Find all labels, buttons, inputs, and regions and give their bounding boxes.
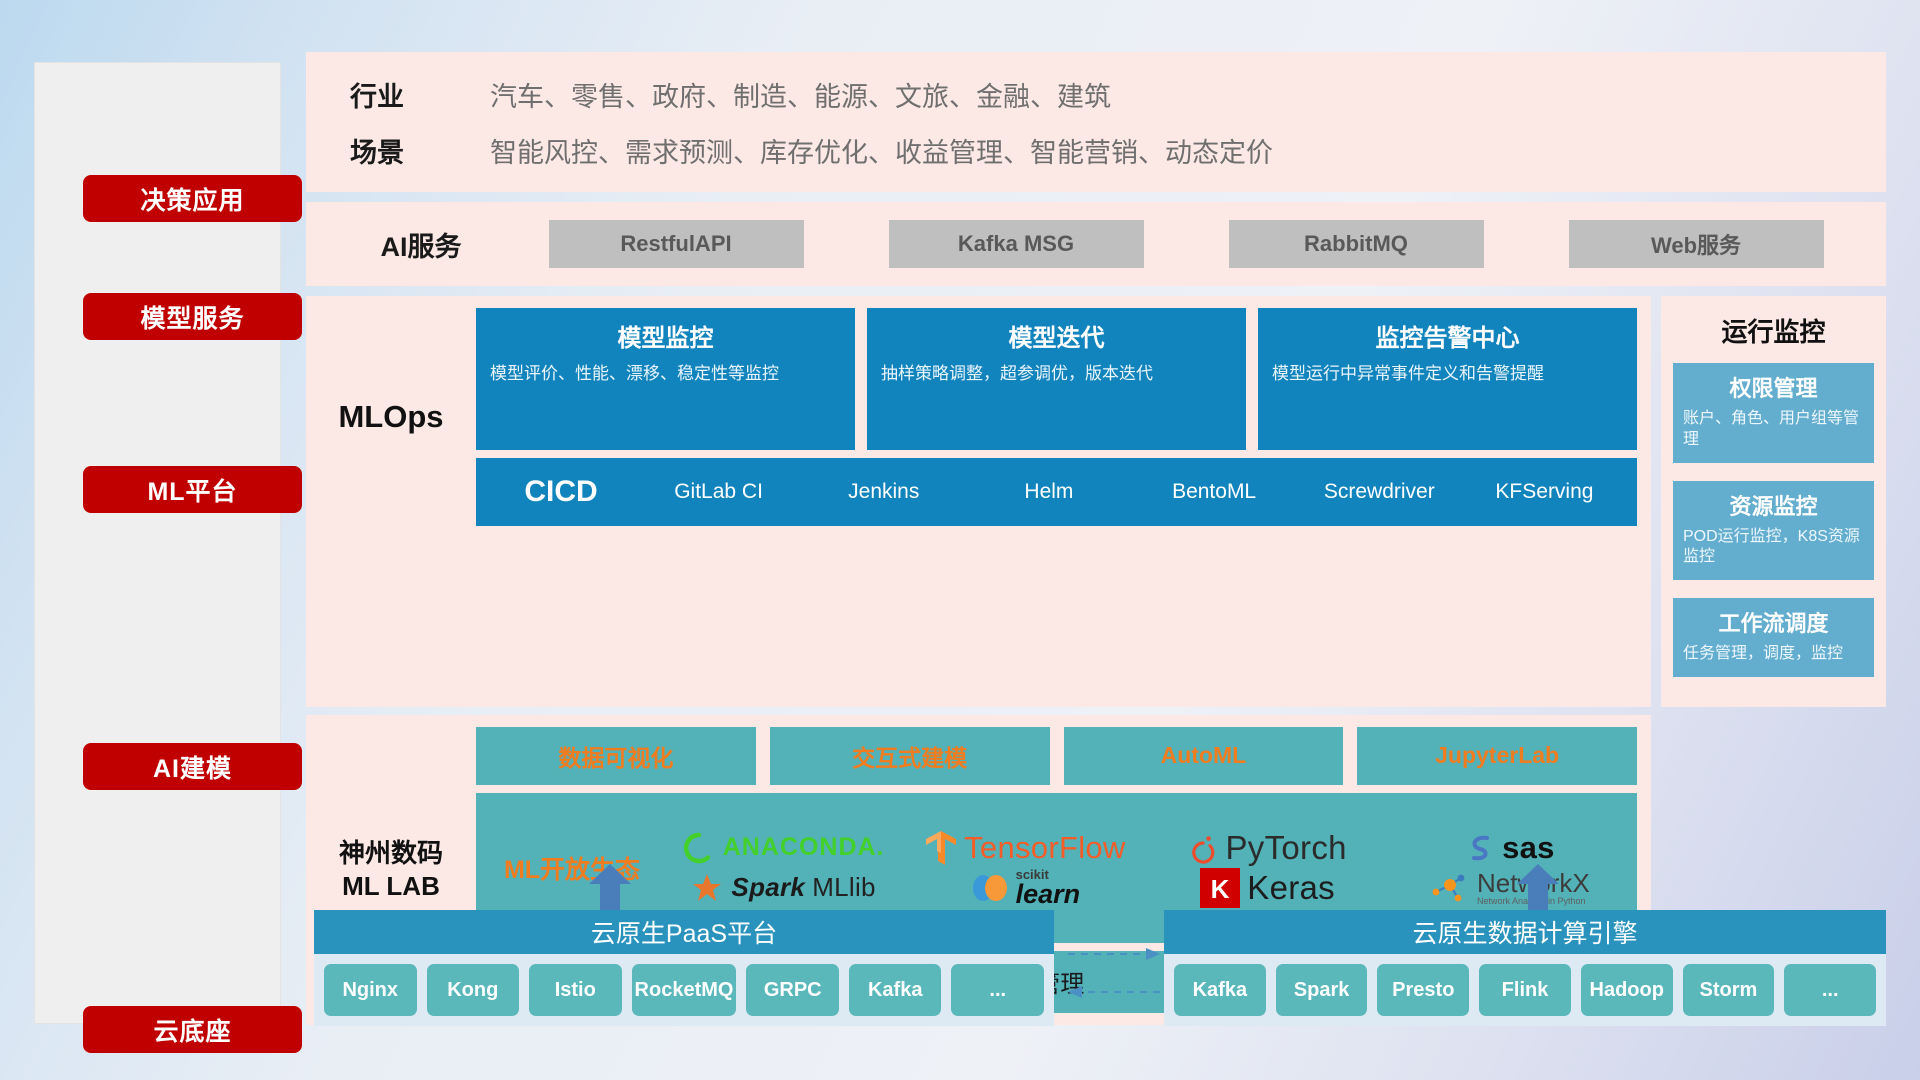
mlops-card-title: 监控告警中心	[1272, 318, 1623, 353]
engine-chip-spark[interactable]: Spark	[1276, 964, 1368, 1016]
cicd-item-helm[interactable]: Helm	[966, 480, 1131, 504]
monitor-card-title: 权限管理	[1683, 371, 1864, 403]
cloud-native-paas-title: 云原生PaaS平台	[314, 910, 1054, 954]
bidirectional-dashed-connector	[1066, 942, 1162, 1004]
cloud-native-data-engine-group: 云原生数据计算引擎 Kafka Spark Presto Flink Hadoo…	[1164, 910, 1886, 1026]
rail-badge-ai-modeling[interactable]: AI建模	[83, 743, 302, 790]
ml-lab-label-line1: 神州数码	[339, 837, 443, 870]
cicd-item-jenkins[interactable]: Jenkins	[801, 480, 966, 504]
mlops-label: MLOps	[306, 308, 476, 526]
engine-chip-storm[interactable]: Storm	[1683, 964, 1775, 1016]
cloud-native-data-engine-title: 云原生数据计算引擎	[1164, 910, 1886, 954]
rail-badge-label: 云底座	[153, 1012, 231, 1048]
paas-chip-rocketmq[interactable]: RocketMQ	[632, 964, 737, 1016]
ai-service-chip-rabbitmq[interactable]: RabbitMQ	[1229, 220, 1484, 268]
rail-badge-cloud-base[interactable]: 云底座	[83, 1006, 302, 1053]
paas-chip-nginx[interactable]: Nginx	[324, 964, 417, 1016]
runtime-monitor-panel: 运行监控 权限管理 账户、角色、用户组等管理 资源监控 POD运行监控，K8S资…	[1661, 296, 1886, 707]
ai-service-chip-web-service[interactable]: Web服务	[1569, 220, 1824, 268]
industry-scenario-panel: 行业 汽车、零售、政府、制造、能源、文旅、金融、建筑 场景 智能风控、需求预测、…	[306, 52, 1886, 192]
mlops-card-title: 模型迭代	[881, 318, 1232, 353]
pytorch-wordmark: PyTorch	[1225, 829, 1346, 867]
logo-sas[interactable]: sas	[1465, 830, 1555, 866]
industry-row: 行业 汽车、零售、政府、制造、能源、文旅、金融、建筑	[350, 66, 1273, 122]
monitor-card-desc: 任务管理，调度，监控	[1683, 644, 1864, 665]
rail-badge-ml-platform[interactable]: ML平台	[83, 466, 302, 513]
engine-chip-kafka[interactable]: Kafka	[1174, 964, 1266, 1016]
engine-chip-presto[interactable]: Presto	[1377, 964, 1469, 1016]
paas-chip-kong[interactable]: Kong	[427, 964, 520, 1016]
anaconda-icon	[682, 831, 716, 865]
runtime-monitor-title: 运行监控	[1673, 312, 1874, 349]
industry-key: 行业	[350, 75, 490, 114]
mlops-card-desc: 抽样策略调整，超参调优，版本迭代	[881, 363, 1232, 386]
cloud-native-paas-group: 云原生PaaS平台 Nginx Kong Istio RocketMQ GRPC…	[314, 910, 1054, 1026]
mlops-card-alert-center[interactable]: 监控告警中心 模型运行中异常事件定义和告警提醒	[1258, 308, 1637, 450]
modeling-tool-data-visualization[interactable]: 数据可视化	[476, 727, 756, 785]
up-arrow-icon-left	[588, 864, 632, 910]
mlops-card-desc: 模型运行中异常事件定义和告警提醒	[1272, 363, 1623, 386]
sas-wordmark: sas	[1502, 830, 1555, 866]
cicd-item-kfserving[interactable]: KFServing	[1462, 480, 1627, 504]
ai-service-panel: AI服务 RestfulAPI Kafka MSG RabbitMQ Web服务	[306, 202, 1886, 286]
cloud-native-data-engine-chip-list: Kafka Spark Presto Flink Hadoop Storm ..…	[1164, 954, 1886, 1026]
engine-chip-more[interactable]: ...	[1784, 964, 1876, 1016]
mlops-and-monitor-row: MLOps 模型监控 模型评价、性能、漂移、稳定性等监控 模型迭代 抽样策略调整…	[306, 296, 1886, 707]
monitor-card-workflow[interactable]: 工作流调度 任务管理，调度，监控	[1673, 598, 1874, 677]
rail-badge-label: ML平台	[147, 472, 237, 508]
engine-chip-hadoop[interactable]: Hadoop	[1581, 964, 1673, 1016]
cloud-base-section: 云原生PaaS平台 Nginx Kong Istio RocketMQ GRPC…	[306, 882, 1886, 1032]
scenario-key: 场景	[350, 131, 490, 170]
cicd-item-bentoml[interactable]: BentoML	[1132, 480, 1297, 504]
ai-service-label: AI服务	[336, 225, 506, 264]
monitor-card-desc: 账户、角色、用户组等管理	[1683, 409, 1864, 451]
logo-pytorch[interactable]: PyTorch	[1188, 829, 1346, 867]
anaconda-wordmark: ANACONDA.	[723, 833, 885, 862]
scenario-value: 智能风控、需求预测、库存优化、收益管理、智能营销、动态定价	[490, 131, 1273, 170]
mlops-card-model-iteration[interactable]: 模型迭代 抽样策略调整，超参调优，版本迭代	[867, 308, 1246, 450]
ai-service-chip-list: RestfulAPI Kafka MSG RabbitMQ Web服务	[506, 220, 1886, 268]
tensorflow-wordmark: TensorFlow	[964, 830, 1126, 866]
rail-badge-label: AI建模	[153, 749, 232, 785]
cloud-native-paas-chip-list: Nginx Kong Istio RocketMQ GRPC Kafka ...	[314, 954, 1054, 1026]
logo-tensorflow[interactable]: TensorFlow	[925, 829, 1126, 867]
monitor-card-desc: POD运行监控，K8S资源监控	[1683, 527, 1864, 569]
sas-icon	[1465, 831, 1495, 865]
paas-chip-grpc[interactable]: GRPC	[746, 964, 839, 1016]
ai-service-chip-restfulapi[interactable]: RestfulAPI	[549, 220, 804, 268]
industry-table: 行业 汽车、零售、政府、制造、能源、文旅、金融、建筑 场景 智能风控、需求预测、…	[350, 66, 1273, 178]
up-arrow-icon-right	[1516, 864, 1560, 910]
modeling-tool-interactive-modeling[interactable]: 交互式建模	[770, 727, 1050, 785]
engine-chip-flink[interactable]: Flink	[1479, 964, 1571, 1016]
mlops-card-list: 模型监控 模型评价、性能、漂移、稳定性等监控 模型迭代 抽样策略调整，超参调优，…	[476, 308, 1637, 450]
ml-ecosystem-label: ML开放生态	[482, 850, 662, 886]
mlops-card-desc: 模型评价、性能、漂移、稳定性等监控	[490, 363, 841, 386]
cicd-item-list: GitLab CI Jenkins Helm BentoML Screwdriv…	[636, 480, 1627, 504]
architecture-diagram: 决策应用 模型服务 ML平台 AI建模 云底座 行业 汽车、零售、政府、制造、能…	[0, 0, 1920, 1080]
tensorflow-icon	[925, 829, 957, 867]
pytorch-icon	[1188, 831, 1218, 865]
monitor-card-permission[interactable]: 权限管理 账户、角色、用户组等管理	[1673, 363, 1874, 463]
modeling-tool-automl[interactable]: AutoML	[1064, 727, 1344, 785]
rail-badge-model-service[interactable]: 模型服务	[83, 293, 302, 340]
mlops-panel: MLOps 模型监控 模型评价、性能、漂移、稳定性等监控 模型迭代 抽样策略调整…	[306, 296, 1651, 707]
industry-value: 汽车、零售、政府、制造、能源、文旅、金融、建筑	[490, 75, 1111, 114]
mlops-card-title: 模型监控	[490, 318, 841, 353]
cicd-item-screwdriver[interactable]: Screwdriver	[1297, 480, 1462, 504]
cicd-title: CICD	[486, 475, 636, 509]
scenario-row: 场景 智能风控、需求预测、库存优化、收益管理、智能营销、动态定价	[350, 122, 1273, 178]
monitor-card-title: 工作流调度	[1683, 606, 1864, 638]
logo-anaconda[interactable]: ANACONDA.	[682, 831, 885, 865]
rail-badge-decision-app[interactable]: 决策应用	[83, 175, 302, 222]
paas-chip-kafka[interactable]: Kafka	[849, 964, 942, 1016]
mlops-card-model-monitoring[interactable]: 模型监控 模型评价、性能、漂移、稳定性等监控	[476, 308, 855, 450]
ai-service-chip-kafka-msg[interactable]: Kafka MSG	[889, 220, 1144, 268]
cicd-bar: CICD GitLab CI Jenkins Helm BentoML Scre…	[476, 458, 1637, 526]
modeling-tool-list: 数据可视化 交互式建模 AutoML JupyterLab	[476, 727, 1637, 785]
paas-chip-more[interactable]: ...	[951, 964, 1044, 1016]
paas-chip-istio[interactable]: Istio	[529, 964, 622, 1016]
main-column: 行业 汽车、零售、政府、制造、能源、文旅、金融、建筑 场景 智能风控、需求预测、…	[306, 52, 1886, 1025]
monitor-card-title: 资源监控	[1683, 489, 1864, 521]
rail-badge-label: 决策应用	[140, 181, 244, 217]
modeling-tool-jupyterlab[interactable]: JupyterLab	[1357, 727, 1637, 785]
rail-badge-label: 模型服务	[140, 299, 244, 335]
monitor-card-resource[interactable]: 资源监控 POD运行监控，K8S资源监控	[1673, 481, 1874, 581]
layer-rail: 决策应用 模型服务 ML平台 AI建模 云底座	[34, 62, 281, 1024]
cicd-item-gitlab-ci[interactable]: GitLab CI	[636, 480, 801, 504]
